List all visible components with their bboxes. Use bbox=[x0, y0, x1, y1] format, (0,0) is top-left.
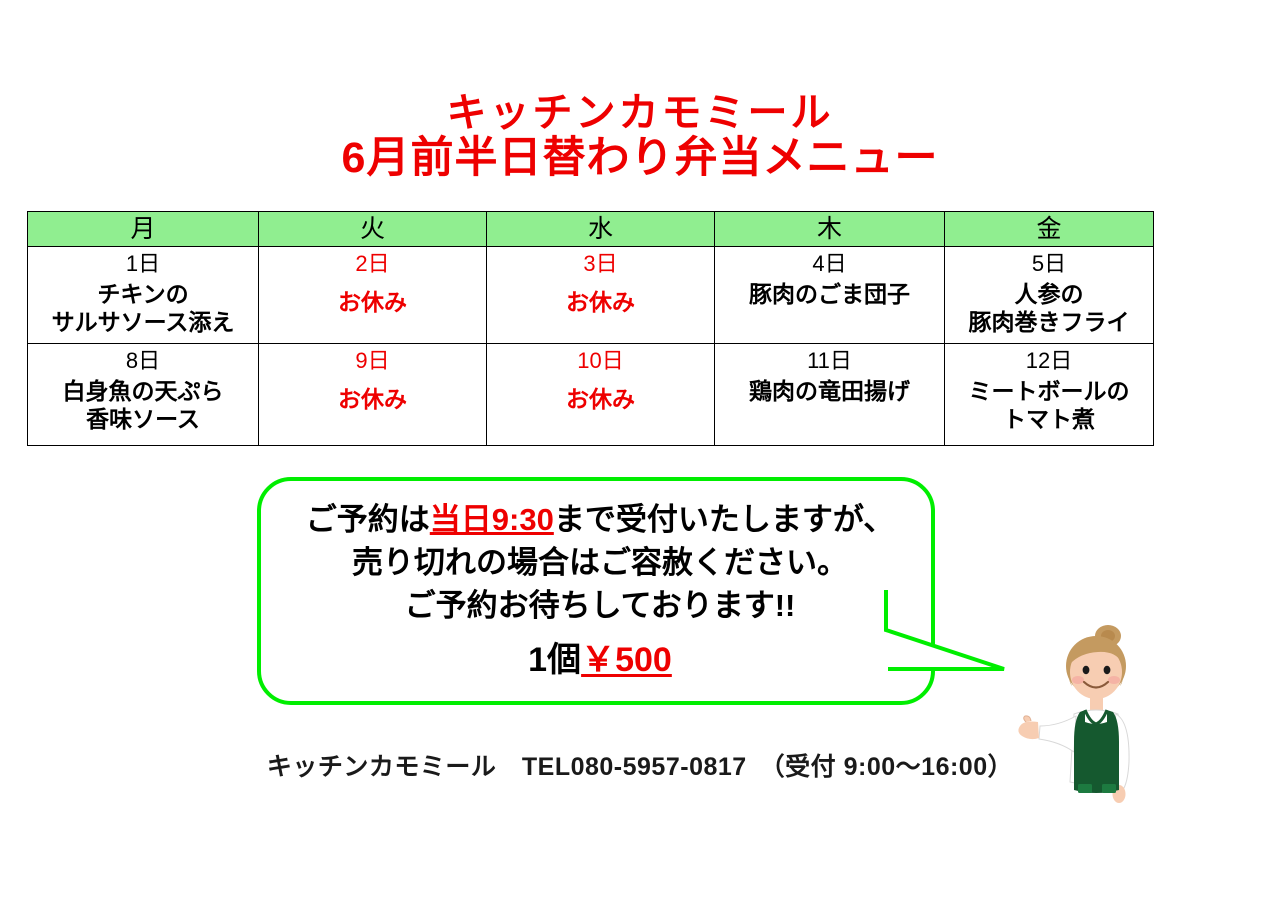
menu-dish-line: 人参の bbox=[948, 280, 1150, 308]
menu-dish-line: 鶏肉の竜田揚げ bbox=[718, 377, 941, 405]
waving-staff-illustration-icon bbox=[1012, 622, 1192, 850]
menu-dish: 鶏肉の竜田揚げ bbox=[718, 377, 941, 405]
bubble-text: ご予約は当日9:30まで受付いたしますが、 売り切れの場合はご容赦ください。 ご… bbox=[261, 499, 939, 684]
menu-dish: お休み bbox=[490, 288, 711, 316]
page-title: キッチンカモミール 6月前半日替わり弁当メニュー bbox=[0, 92, 1280, 182]
menu-dish: お休み bbox=[490, 385, 711, 413]
menu-dish: 豚肉のごま団子 bbox=[718, 280, 941, 308]
menu-dish-line: 豚肉のごま団子 bbox=[718, 280, 941, 308]
menu-dish-line: トマト煮 bbox=[948, 405, 1150, 433]
weekly-menu-table: 月 火 水 木 金 1日 チキンの サルサソース添え 2日 bbox=[27, 211, 1154, 446]
menu-cell-day-8: 8日 白身魚の天ぷら 香味ソース bbox=[28, 344, 259, 446]
menu-date: 10日 bbox=[490, 348, 711, 375]
menu-cell-day-4: 4日 豚肉のごま団子 bbox=[715, 247, 945, 344]
menu-dish-line: 白身魚の天ぷら bbox=[31, 377, 255, 405]
column-header-thursday: 木 bbox=[715, 212, 945, 247]
menu-cell-day-5: 5日 人参の 豚肉巻きフライ bbox=[945, 247, 1154, 344]
bubble-line-2: 売り切れの場合はご容赦ください。 bbox=[261, 542, 939, 585]
title-line-2: 6月前半日替わり弁当メニュー bbox=[0, 135, 1280, 181]
menu-dish-line: ミートボールの bbox=[948, 377, 1150, 405]
column-header-monday: 月 bbox=[28, 212, 259, 247]
menu-dish: お休み bbox=[262, 385, 483, 413]
menu-cell-day-9: 9日 お休み bbox=[259, 344, 487, 446]
menu-dish: 白身魚の天ぷら 香味ソース bbox=[31, 377, 255, 433]
menu-dish: チキンの サルサソース添え bbox=[31, 280, 255, 336]
title-line-1: キッチンカモミール bbox=[0, 92, 1280, 135]
table-header-row: 月 火 水 木 金 bbox=[28, 212, 1154, 247]
table-row: 8日 白身魚の天ぷら 香味ソース 9日 お休み 10日 bbox=[28, 344, 1154, 446]
column-header-tuesday: 火 bbox=[259, 212, 487, 247]
menu-cell-day-11: 11日 鶏肉の竜田揚げ bbox=[715, 344, 945, 446]
menu-cell-day-1: 1日 チキンの サルサソース添え bbox=[28, 247, 259, 344]
menu-date: 1日 bbox=[31, 251, 255, 278]
menu-dish-line: チキンの bbox=[31, 280, 255, 308]
menu-dish-line: サルサソース添え bbox=[31, 308, 255, 336]
menu-date: 8日 bbox=[31, 348, 255, 375]
menu-dish-line: お休み bbox=[490, 288, 711, 316]
table-row: 1日 チキンの サルサソース添え 2日 お休み 3日 bbox=[28, 247, 1154, 344]
menu-date: 12日 bbox=[948, 348, 1150, 375]
menu-dish-line: お休み bbox=[262, 385, 483, 413]
price-prefix: 1個 bbox=[528, 641, 581, 679]
column-header-friday: 金 bbox=[945, 212, 1154, 247]
menu-dish-line: お休み bbox=[490, 385, 711, 413]
bubble-deadline-highlight: 当日9:30 bbox=[430, 502, 554, 537]
menu-dish: お休み bbox=[262, 288, 483, 316]
bubble-line-1-before: ご予約は bbox=[306, 502, 430, 537]
price-amount: ￥500 bbox=[581, 641, 672, 679]
column-header-wednesday: 水 bbox=[487, 212, 715, 247]
reservation-notice-bubble: ご予約は当日9:30まで受付いたしますが、 売り切れの場合はご容赦ください。 ご… bbox=[257, 477, 935, 705]
menu-date: 3日 bbox=[490, 251, 711, 278]
bubble-line-1: ご予約は当日9:30まで受付いたしますが、 bbox=[261, 499, 939, 542]
menu-date: 11日 bbox=[718, 348, 941, 375]
bubble-line-1-after: まで受付いたしますが、 bbox=[554, 502, 894, 537]
menu-cell-day-12: 12日 ミートボールの トマト煮 bbox=[945, 344, 1154, 446]
menu-dish-line: お休み bbox=[262, 288, 483, 316]
menu-cell-day-10: 10日 お休み bbox=[487, 344, 715, 446]
menu-date: 5日 bbox=[948, 251, 1150, 278]
menu-dish-line: 香味ソース bbox=[31, 405, 255, 433]
menu-cell-day-2: 2日 お休み bbox=[259, 247, 487, 344]
menu-date: 9日 bbox=[262, 348, 483, 375]
menu-dish: 人参の 豚肉巻きフライ bbox=[948, 280, 1150, 336]
menu-date: 2日 bbox=[262, 251, 483, 278]
menu-dish: ミートボールの トマト煮 bbox=[948, 377, 1150, 433]
menu-cell-day-3: 3日 お休み bbox=[487, 247, 715, 344]
bubble-line-3: ご予約お待ちしております!! bbox=[261, 585, 939, 628]
bubble-price-line: 1個￥500 bbox=[261, 637, 939, 684]
menu-dish-line: 豚肉巻きフライ bbox=[948, 308, 1150, 336]
menu-date: 4日 bbox=[718, 251, 941, 278]
